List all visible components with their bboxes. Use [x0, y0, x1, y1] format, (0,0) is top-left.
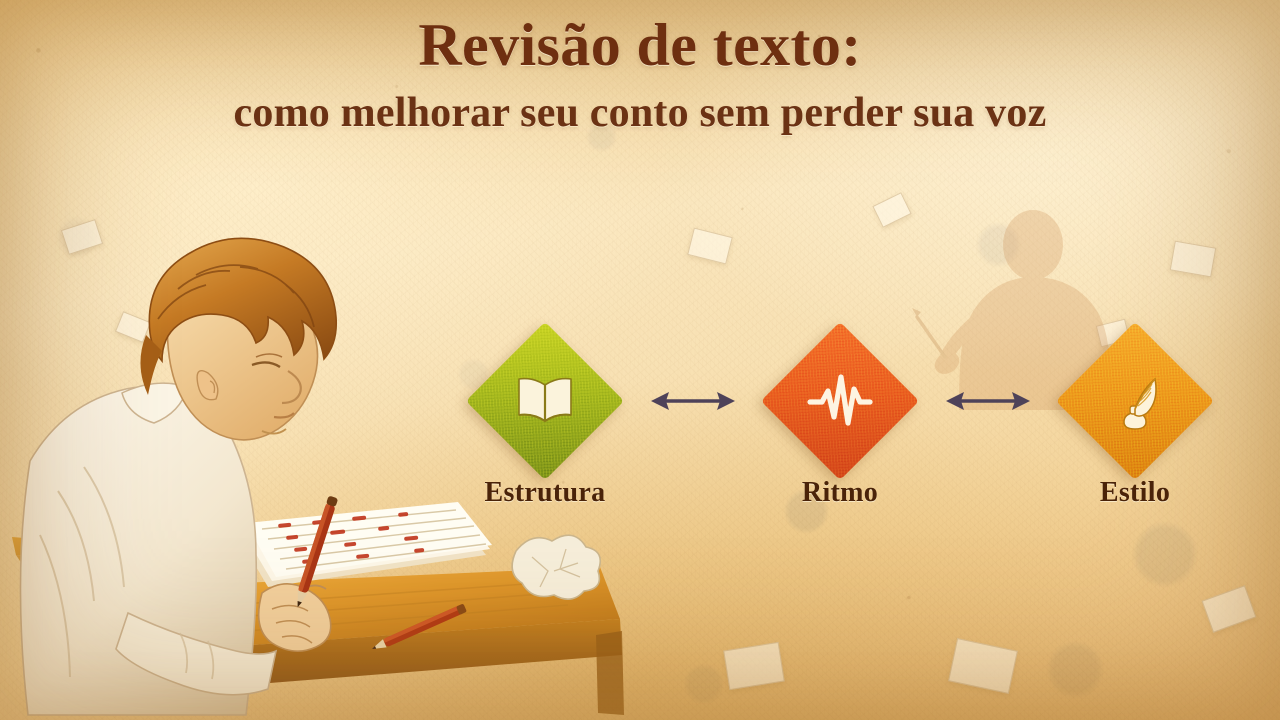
floating-paper [1170, 241, 1217, 278]
flow-node-estrutura[interactable]: Estrutura [470, 345, 620, 509]
floating-paper [948, 638, 1018, 694]
revision-flow: Estrutura Ritmo [470, 345, 1210, 545]
page-subtitle: como melhorar seu conto sem perder sua v… [0, 91, 1280, 136]
double-arrow-icon [942, 388, 1034, 414]
title-card: Revisão de texto: como melhorar seu cont… [0, 0, 1280, 720]
diamond-estilo [1056, 322, 1214, 480]
floating-paper [723, 642, 785, 690]
double-arrow-icon [647, 388, 739, 414]
waveform-pulse-icon [784, 345, 896, 457]
connector-2 [940, 345, 1036, 457]
diamond-ritmo [761, 322, 919, 480]
flow-label-estilo: Estilo [1100, 477, 1170, 509]
quill-inkwell-icon [1079, 345, 1191, 457]
connector-1 [645, 345, 741, 457]
flow-node-ritmo[interactable]: Ritmo [765, 345, 915, 509]
diamond-estrutura [466, 322, 624, 480]
open-book-icon [489, 345, 601, 457]
flow-label-estrutura: Estrutura [485, 477, 606, 509]
page-title: Revisão de texto: [0, 14, 1280, 78]
floating-paper [687, 228, 733, 265]
floating-paper [1202, 585, 1257, 633]
flow-label-ritmo: Ritmo [802, 477, 878, 509]
flow-node-estilo[interactable]: Estilo [1060, 345, 1210, 509]
header: Revisão de texto: como melhorar seu cont… [0, 0, 1280, 136]
